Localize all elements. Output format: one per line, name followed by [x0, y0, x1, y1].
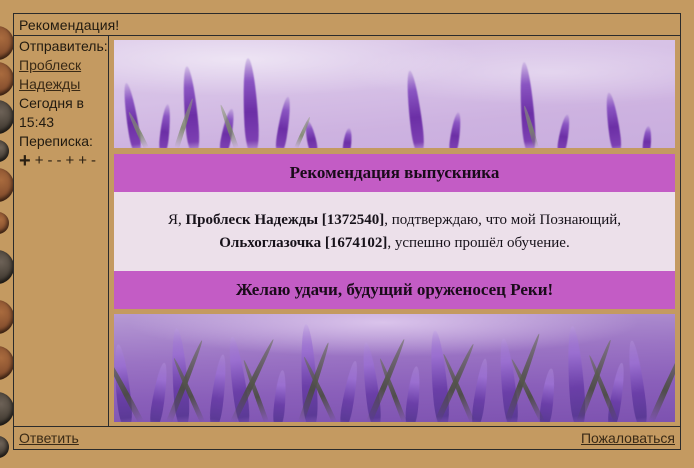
reply-link[interactable]: Ответить [19, 430, 79, 446]
decorative-bead [0, 100, 14, 134]
date-line-1: Сегодня в [19, 94, 108, 113]
prose-bold-student: Ольхоглазочка [1674102] [219, 235, 387, 251]
rating-signs-row: + + - - + + - [19, 154, 108, 168]
page-title: Рекомендация! [19, 17, 119, 33]
letter-content-column: Рекомендация выпускника Я, Проблеск Наде… [109, 36, 680, 426]
card-footer: Ответить Пожаловаться [14, 426, 680, 449]
rating-sign-plus-primary[interactable]: + [19, 154, 31, 168]
prose-bold-sender: Проблеск Надежды [1372540] [186, 212, 385, 228]
sender-link[interactable]: Проблеск Надежды [19, 56, 108, 94]
prose-part-2: , подтверждаю, что мой Познающий, [384, 212, 621, 228]
sender-name-line-2[interactable]: Надежды [19, 75, 108, 94]
letter-prose-text: Я, Проблеск Надежды [1372540], подтвержд… [142, 209, 647, 255]
rating-sign-6[interactable]: + [78, 154, 87, 168]
decorative-bead [0, 62, 14, 96]
decorative-bead [0, 250, 14, 284]
rating-sign-3[interactable]: - [47, 154, 52, 168]
date-line-2: 15:43 [19, 113, 108, 132]
thread-label: Переписка: [19, 132, 108, 151]
message-meta-column: Отправитель: Проблеск Надежды Сегодня в … [14, 36, 109, 426]
message-card: Рекомендация! Отправитель: Проблеск Наде… [13, 13, 681, 450]
rating-sign-5[interactable]: + [65, 154, 74, 168]
letter-footer-banner: Желаю удачи, будущий оруженосец Реки! [114, 271, 675, 309]
letter-title-banner: Рекомендация выпускника [114, 154, 675, 192]
sender-label: Отправитель: [19, 37, 108, 56]
decorative-bead [0, 392, 14, 426]
lavender-image-bottom [114, 314, 675, 422]
decorative-bead [0, 212, 9, 234]
letter-footer-text: Желаю удачи, будущий оруженосец Реки! [236, 280, 553, 300]
letter-prose-block: Я, Проблеск Надежды [1372540], подтвержд… [114, 192, 675, 271]
decorative-bead [0, 26, 14, 60]
sender-name-line-1[interactable]: Проблеск [19, 56, 108, 75]
card-title-bar: Рекомендация! [14, 14, 680, 36]
rating-sign-2[interactable]: + [35, 154, 44, 168]
decorative-bead [0, 140, 9, 162]
rating-sign-4[interactable]: - [56, 154, 61, 168]
prose-part-1: Я, [168, 212, 186, 228]
rating-sign-7[interactable]: - [91, 154, 96, 168]
decorative-bead [0, 346, 14, 380]
lavender-image-top [114, 40, 675, 148]
decorative-bead [0, 300, 14, 334]
letter-title-text: Рекомендация выпускника [290, 163, 500, 183]
decorative-bead [0, 168, 14, 202]
complain-link[interactable]: Пожаловаться [581, 430, 675, 446]
prose-part-3: , успешно прошёл обучение. [387, 235, 569, 251]
card-body: Отправитель: Проблеск Надежды Сегодня в … [14, 36, 680, 426]
decorative-bead [0, 436, 9, 458]
